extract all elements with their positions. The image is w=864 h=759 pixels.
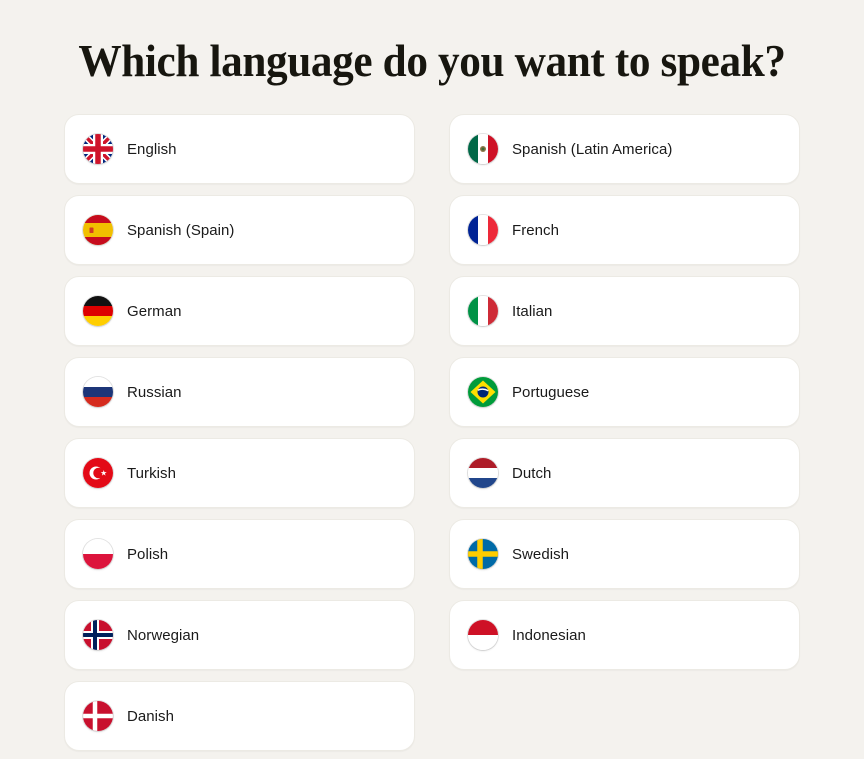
flag-mx-icon: [468, 134, 498, 164]
flag-ru-icon: [83, 377, 113, 407]
flag-br-icon: [468, 377, 498, 407]
language-option-label: Portuguese: [512, 385, 589, 400]
right-column: Spanish (Latin America) French Italian P…: [449, 114, 800, 751]
flag-dk-icon: [83, 701, 113, 731]
language-option-portuguese[interactable]: Portuguese: [449, 357, 800, 427]
page-title: Which language do you want to speak?: [26, 0, 838, 87]
flag-nl-icon: [468, 458, 498, 488]
flag-id-icon: [468, 620, 498, 650]
language-option-label: Indonesian: [512, 628, 586, 643]
language-option-label: Russian: [127, 385, 182, 400]
language-option-german[interactable]: German: [64, 276, 415, 346]
language-option-label: French: [512, 223, 559, 238]
language-option-label: Spanish (Latin America): [512, 142, 672, 157]
flag-it-icon: [468, 296, 498, 326]
language-option-spanish-spain[interactable]: Spanish (Spain): [64, 195, 415, 265]
language-grid: English Spanish (Spain) German Russian T…: [64, 87, 800, 751]
language-option-dutch[interactable]: Dutch: [449, 438, 800, 508]
flag-de-icon: [83, 296, 113, 326]
flag-es-icon: [83, 215, 113, 245]
flag-tr-icon: [83, 458, 113, 488]
flag-pl-icon: [83, 539, 113, 569]
language-option-danish[interactable]: Danish: [64, 681, 415, 751]
language-picker-screen: Which language do you want to speak? Eng…: [0, 0, 864, 759]
language-option-french[interactable]: French: [449, 195, 800, 265]
language-option-label: German: [127, 304, 182, 319]
flag-fr-icon: [468, 215, 498, 245]
language-option-label: Turkish: [127, 466, 176, 481]
language-option-swedish[interactable]: Swedish: [449, 519, 800, 589]
language-option-russian[interactable]: Russian: [64, 357, 415, 427]
flag-no-icon: [83, 620, 113, 650]
language-option-label: Polish: [127, 547, 168, 562]
language-option-label: Dutch: [512, 466, 551, 481]
language-option-norwegian[interactable]: Norwegian: [64, 600, 415, 670]
language-option-spanish-latin-america[interactable]: Spanish (Latin America): [449, 114, 800, 184]
flag-se-icon: [468, 539, 498, 569]
language-option-turkish[interactable]: Turkish: [64, 438, 415, 508]
language-option-indonesian[interactable]: Indonesian: [449, 600, 800, 670]
language-option-label: Norwegian: [127, 628, 199, 643]
language-option-italian[interactable]: Italian: [449, 276, 800, 346]
language-option-label: Danish: [127, 709, 174, 724]
language-option-label: Spanish (Spain): [127, 223, 234, 238]
language-option-polish[interactable]: Polish: [64, 519, 415, 589]
language-option-label: English: [127, 142, 177, 157]
flag-gb-icon: [83, 134, 113, 164]
language-option-label: Swedish: [512, 547, 569, 562]
language-option-label: Italian: [512, 304, 552, 319]
language-option-english[interactable]: English: [64, 114, 415, 184]
left-column: English Spanish (Spain) German Russian T…: [64, 114, 415, 751]
